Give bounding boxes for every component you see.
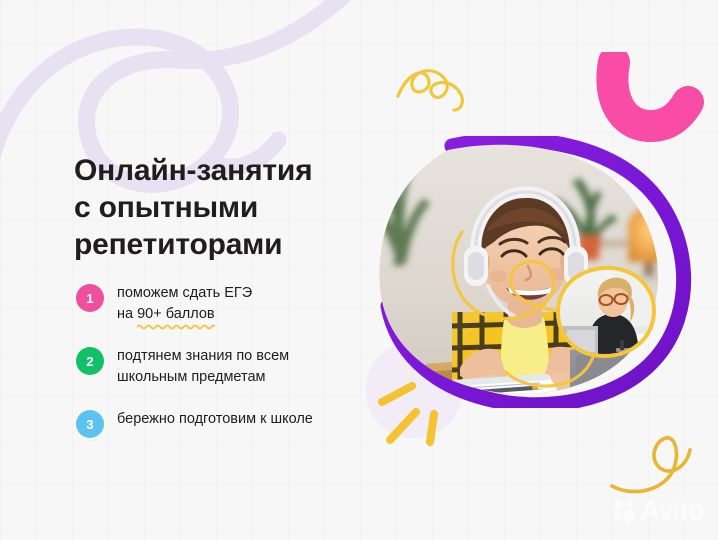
squiggle-decoration-top [392, 58, 482, 118]
feature-line-2: на 90+ баллов [117, 304, 252, 325]
list-item: 3 бережно подготовим к школе [76, 409, 386, 438]
promo-banner: Онлайн-занятия с опытными репетиторами 1… [0, 0, 718, 540]
squiggle-decoration-bottom [604, 428, 700, 500]
feature-highlight: 90+ баллов [137, 304, 215, 325]
crescent-decoration [592, 52, 704, 148]
feature-highlight-text: 90+ баллов [137, 306, 215, 322]
feature-number-badge: 3 [76, 410, 104, 438]
photo-composition [356, 136, 696, 408]
avito-logo-icon [611, 498, 637, 524]
feature-text: поможем сдать ЕГЭ на 90+ баллов [117, 283, 252, 324]
feature-text: бережно подготовим к школе [117, 409, 313, 430]
avito-watermark: Avito [611, 495, 705, 526]
headline-line-1: Онлайн-занятия [74, 153, 374, 190]
tutor-inset-photo [554, 264, 658, 360]
feature-line-1: бережно подготовим к школе [117, 409, 313, 430]
headline-line-3: репетиторами [74, 227, 374, 264]
list-item: 1 поможем сдать ЕГЭ на 90+ баллов [76, 283, 386, 324]
avito-wordmark: Avito [641, 495, 705, 526]
feature-line-1: поможем сдать ЕГЭ [117, 283, 252, 304]
feature-text: подтянем знания по всем школьным предмет… [117, 346, 289, 387]
wavy-underline-icon [137, 323, 215, 330]
feature-number-badge: 2 [76, 347, 104, 375]
feature-number-badge: 1 [76, 284, 104, 312]
feature-line-2-prefix: на [117, 306, 137, 322]
list-item: 2 подтянем знания по всем школьным предм… [76, 346, 386, 387]
headline-line-2: с опытными [74, 190, 374, 227]
feature-line-1: подтянем знания по всем [117, 346, 289, 367]
feature-list: 1 поможем сдать ЕГЭ на 90+ баллов 2 подт… [76, 283, 386, 438]
page-title: Онлайн-занятия с опытными репетиторами [74, 153, 374, 264]
feature-line-2: школьным предметам [117, 367, 289, 388]
